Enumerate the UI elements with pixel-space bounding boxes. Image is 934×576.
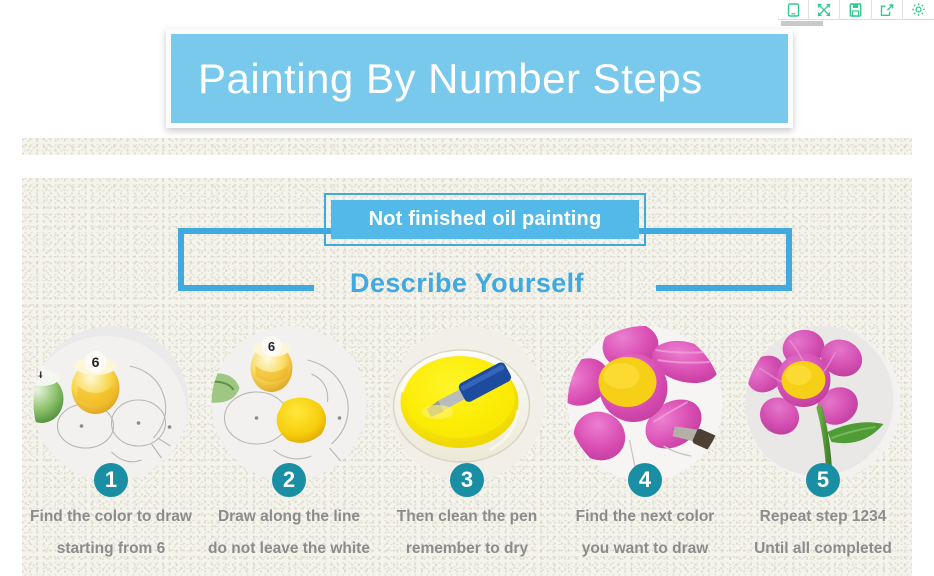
- mobile-preview-icon: [787, 3, 800, 17]
- fullscreen-icon: [817, 3, 831, 17]
- step-item: 4 6 1 Find the color to draw starting fr…: [22, 326, 200, 576]
- save-icon-button[interactable]: [840, 0, 871, 19]
- step-3-photo: [390, 326, 545, 481]
- step-item: 5 Repeat step 1234 Until all completed: [734, 326, 912, 576]
- step-item: 3 Then clean the pen remember to dry: [378, 326, 556, 576]
- step-4-badge: 4: [628, 463, 662, 497]
- editor-toolbar: [778, 0, 934, 19]
- mobile-preview-icon-button[interactable]: [778, 0, 809, 19]
- step-5-photo: [746, 326, 901, 481]
- step-1-badge: 1: [94, 463, 128, 497]
- step-item: 6 2 Draw along the line do not leave the…: [200, 326, 378, 576]
- texture-band-top: [22, 138, 912, 155]
- settings-gear-icon: [911, 2, 926, 17]
- step-2-photo: 6: [212, 326, 367, 481]
- step-1-caption-line1: Find the color to draw: [22, 508, 200, 526]
- step-2-caption-line1: Draw along the line: [200, 508, 378, 526]
- svg-text:6: 6: [268, 339, 275, 354]
- step-5-badge: 5: [806, 463, 840, 497]
- svg-text:6: 6: [92, 354, 100, 370]
- step-3-caption-line1: Then clean the pen: [378, 508, 556, 526]
- step-2-badge: 2: [272, 463, 306, 497]
- step-3-caption-line2: remember to dry: [378, 540, 556, 558]
- share-icon: [880, 3, 894, 17]
- settings-gear-icon-button[interactable]: [903, 0, 934, 19]
- toolbar-tab-indicator: [781, 21, 823, 26]
- steps-row: 4 6 1 Find the color to draw starting fr…: [22, 326, 912, 576]
- step-4-caption-line2: you want to draw: [556, 540, 734, 558]
- hero-banner: Painting By Number Steps: [166, 29, 793, 128]
- step-5-caption-line2: Until all completed: [734, 540, 912, 558]
- callout-subtitle: Describe Yourself: [0, 268, 934, 299]
- step-item: 4 Find the next color you want to draw: [556, 326, 734, 576]
- share-icon-button[interactable]: [872, 0, 903, 19]
- step-1-caption-line2: starting from 6: [22, 540, 200, 558]
- step-2-caption-line2: do not leave the white: [200, 540, 378, 558]
- step-4-caption-line1: Find the next color: [556, 508, 734, 526]
- fullscreen-icon-button[interactable]: [809, 0, 840, 19]
- page-root: Painting By Number Steps Not finished oi…: [0, 0, 934, 576]
- callout-label-text: Not finished oil painting: [369, 208, 602, 231]
- step-5-caption-line1: Repeat step 1234: [734, 508, 912, 526]
- step-3-badge: 3: [450, 463, 484, 497]
- callout-label-box: Not finished oil painting: [324, 193, 646, 246]
- svg-text:4: 4: [37, 370, 43, 381]
- step-1-photo: 4 6: [34, 326, 189, 481]
- step-4-photo: [568, 326, 723, 481]
- callout-label-fill: Not finished oil painting: [331, 200, 639, 239]
- save-icon: [849, 3, 862, 17]
- page-title: Painting By Number Steps: [171, 58, 703, 100]
- toolbar-underline: [778, 19, 934, 20]
